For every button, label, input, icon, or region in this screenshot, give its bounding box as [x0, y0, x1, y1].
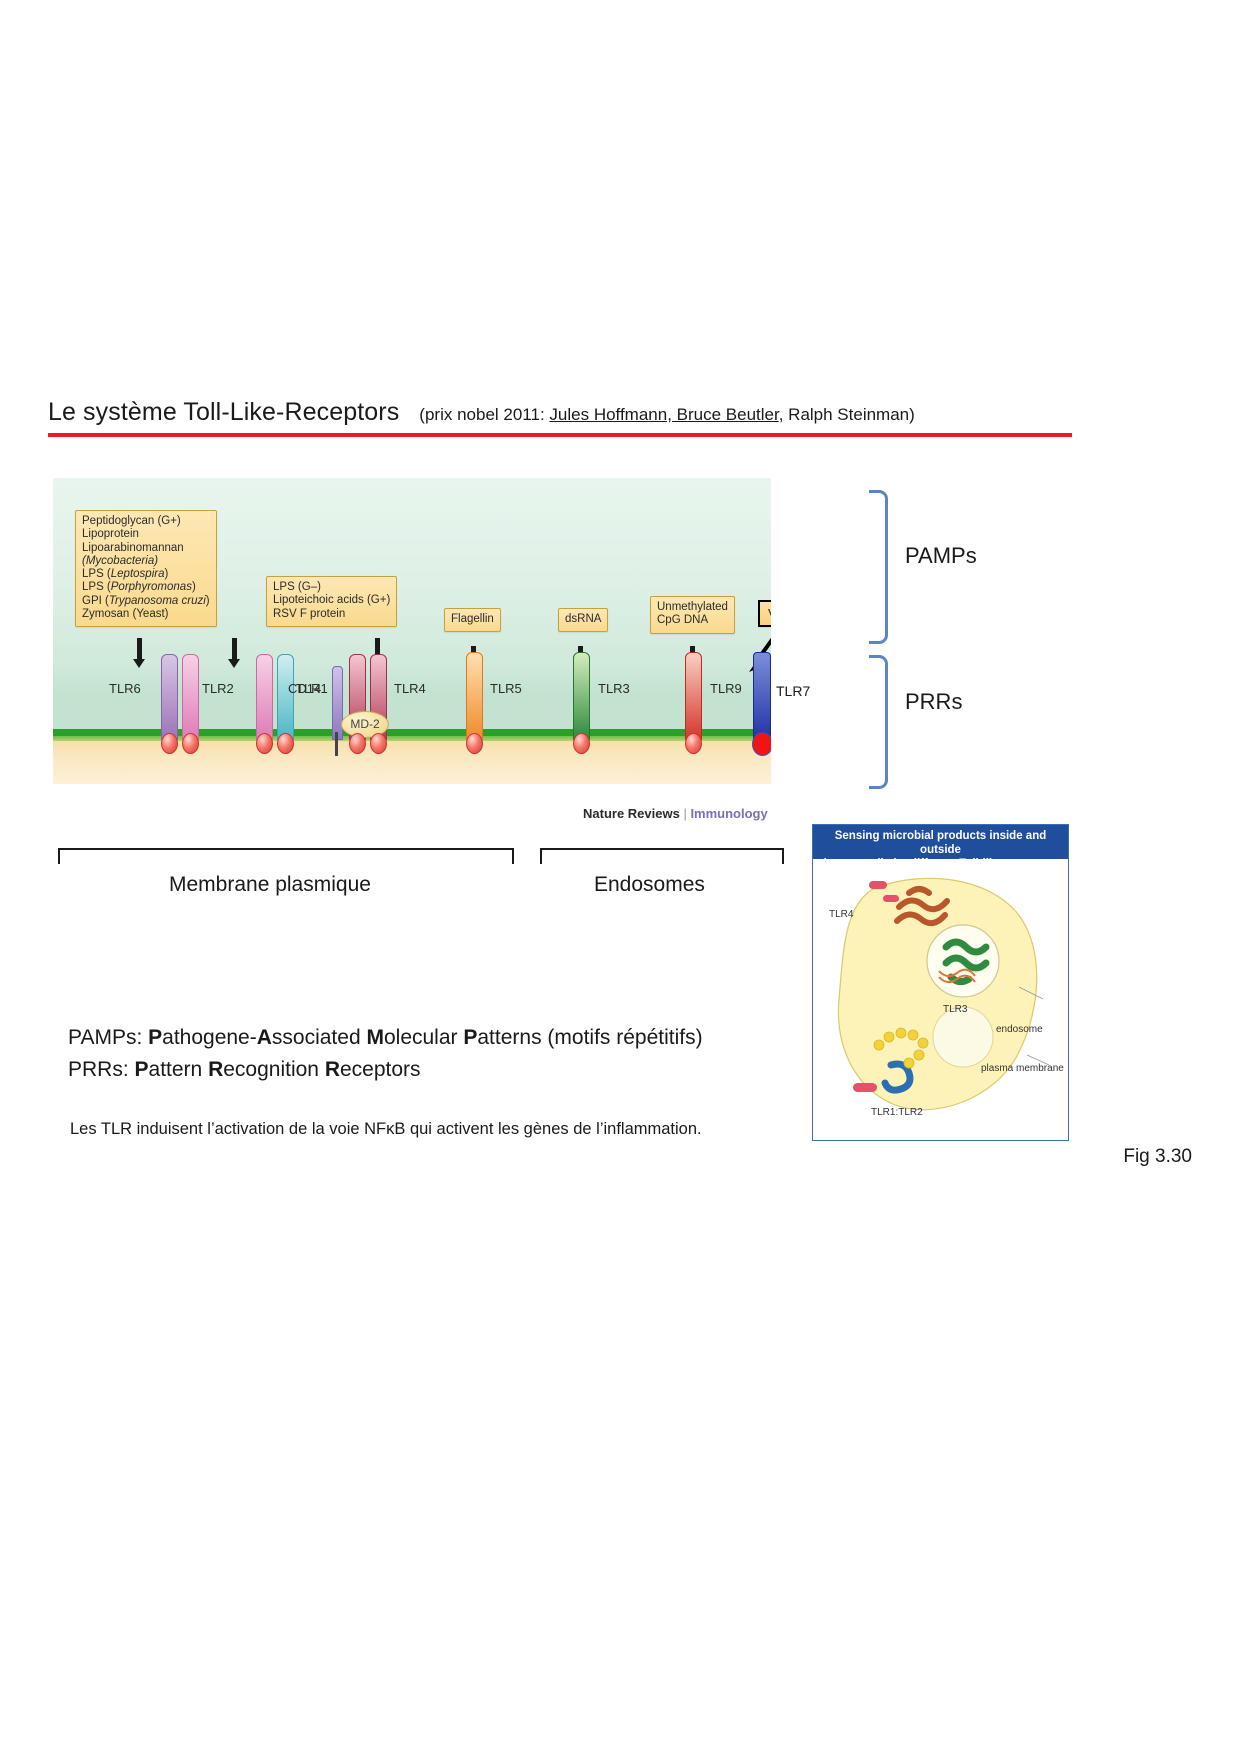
- ligand-line: LPS (Leptospira): [82, 568, 210, 581]
- ligand-line: Unmethylated: [657, 601, 728, 614]
- ligand-line: Flagellin: [451, 613, 494, 626]
- inset-label-tlr4: TLR4: [829, 909, 853, 920]
- cd14-gpi-anchor: [335, 732, 338, 756]
- inset-header: Sensing microbial products inside and ou…: [813, 825, 1068, 859]
- inset-cell-illustration: [813, 859, 1068, 1138]
- ligand-line: LPS (Porphyromonas): [82, 581, 210, 594]
- inset-body: TLR4 TLR3 endosome plasma membrane TLR1:…: [813, 859, 1068, 1138]
- ligand-line: Lipoarabinomannan: [82, 542, 210, 555]
- nobel-laureates-underlined: Jules Hoffmann, Bruce Beutler: [549, 405, 778, 424]
- ligand-box-tlr3: dsRNA: [558, 608, 608, 632]
- receptor-tlr6: [161, 654, 178, 740]
- receptor-tlr2-a: [182, 654, 199, 740]
- receptor-tlr9: [685, 652, 702, 740]
- ligand-line: LPS (G–): [273, 581, 390, 594]
- receptor-label-cd14: CD14: [288, 681, 321, 696]
- bracket-prrs: [869, 655, 888, 789]
- ligand-box-tlr7-viral-ssrna: Viral ssRNA: [758, 600, 771, 627]
- ligand-box-tlr5: Flagellin: [444, 608, 501, 632]
- receptor-tlr3: [573, 652, 590, 740]
- ligand-line: Peptidoglycan (G+): [82, 515, 210, 528]
- figure-number: Fig 3.30: [1123, 1146, 1192, 1168]
- page-title-main: Le système Toll-Like-Receptors: [48, 398, 399, 427]
- inset-label-plasma-membrane: plasma membrane: [981, 1063, 1064, 1074]
- label-membrane-plasmique: Membrane plasmique: [169, 873, 371, 897]
- ligand-line: Viral ssRNA: [768, 607, 771, 620]
- receptor-label-tlr5: TLR5: [490, 681, 522, 696]
- tir-domain-ball: [370, 733, 387, 754]
- ligand-line: Zymosan (Yeast): [82, 608, 210, 621]
- nobel-suffix: , Ralph Steinman): [779, 405, 915, 424]
- arrow-down-tlr2: [228, 638, 241, 668]
- tir-domain-ball: [349, 733, 366, 754]
- tir-domain-ball: [573, 733, 590, 754]
- receptor-tlr7: [753, 652, 771, 740]
- ligand-line: Lipoprotein: [82, 528, 210, 541]
- inset-header-line1: Sensing microbial products inside and ou…: [813, 829, 1068, 857]
- definition-prrs: PRRs: Pattern Recognition Receptors: [68, 1054, 808, 1086]
- slide-page: Le système Toll-Like-Receptors (prix nob…: [0, 0, 1240, 1755]
- arrow-down-tlr6: [133, 638, 146, 668]
- receptor-tlr5: [466, 652, 483, 740]
- title-underline-rule: [48, 433, 1072, 437]
- inset-figure: Sensing microbial products inside and ou…: [812, 824, 1069, 1141]
- credit-journal: Immunology: [690, 806, 767, 821]
- credit-publisher: Nature Reviews: [583, 806, 680, 821]
- ligand-line: (Mycobacteria): [82, 555, 210, 568]
- bracket-pamps: [869, 490, 888, 644]
- receptor-label-tlr6: TLR6: [109, 681, 141, 696]
- tir-domain-ball: [685, 733, 702, 754]
- ligand-line: GPI (Trypanosoma cruzi): [82, 595, 210, 608]
- receptor-label-tlr9: TLR9: [710, 681, 742, 696]
- tir-domain-ball: [256, 733, 273, 754]
- tir-domain-ball: [466, 733, 483, 754]
- tir-domain-ball: [277, 733, 294, 754]
- receptor-tlr1: [277, 654, 294, 740]
- side-label-prrs: PRRs: [905, 689, 962, 715]
- tir-domain-ball: [752, 732, 771, 756]
- receptor-tlr2-b: [256, 654, 273, 740]
- tlr-diagram: Peptidoglycan (G+) Lipoprotein Lipoarabi…: [53, 478, 771, 784]
- tir-domain-ball: [161, 733, 178, 754]
- ligand-line: Lipoteichoic acids (G+): [273, 594, 390, 607]
- receptor-label-tlr2: TLR2: [202, 681, 234, 696]
- nobel-prefix: (prix nobel 2011:: [419, 405, 549, 424]
- ligand-line: CpG DNA: [657, 614, 728, 627]
- ligand-line: RSV F protein: [273, 608, 390, 621]
- ligand-box-tlr2-tlr6: Peptidoglycan (G+) Lipoprotein Lipoarabi…: [75, 510, 217, 627]
- page-title: Le système Toll-Like-Receptors (prix nob…: [48, 398, 1072, 427]
- note-nfkb-pathway: Les TLR induisent l’activation de la voi…: [70, 1120, 702, 1139]
- credit-separator: |: [680, 806, 691, 821]
- figure-credit: Nature Reviews | Immunology: [583, 806, 768, 821]
- ligand-box-tlr4: LPS (G–) Lipoteichoic acids (G+) RSV F p…: [266, 576, 397, 627]
- receptor-label-tlr4: TLR4: [394, 681, 426, 696]
- bracket-membrane-plasmique: [58, 848, 514, 864]
- side-label-pamps: PAMPs: [905, 543, 977, 569]
- receptor-label-tlr3: TLR3: [598, 681, 630, 696]
- definition-pamps: PAMPs: Pathogene-Associated Molecular Pa…: [68, 1022, 808, 1054]
- label-endosomes: Endosomes: [594, 873, 705, 897]
- ligand-box-tlr9: Unmethylated CpG DNA: [650, 596, 735, 634]
- ligand-line: dsRNA: [565, 613, 601, 626]
- inset-label-tlr1-tlr2: TLR1:TLR2: [871, 1107, 923, 1118]
- bracket-endosomes: [540, 848, 784, 864]
- inset-label-endosome: endosome: [996, 1024, 1043, 1035]
- tir-domain-ball: [182, 733, 199, 754]
- page-title-subtitle: (prix nobel 2011: Jules Hoffmann, Bruce …: [419, 405, 915, 425]
- inset-label-tlr3: TLR3: [943, 1004, 967, 1015]
- receptor-label-tlr7: TLR7: [776, 683, 810, 699]
